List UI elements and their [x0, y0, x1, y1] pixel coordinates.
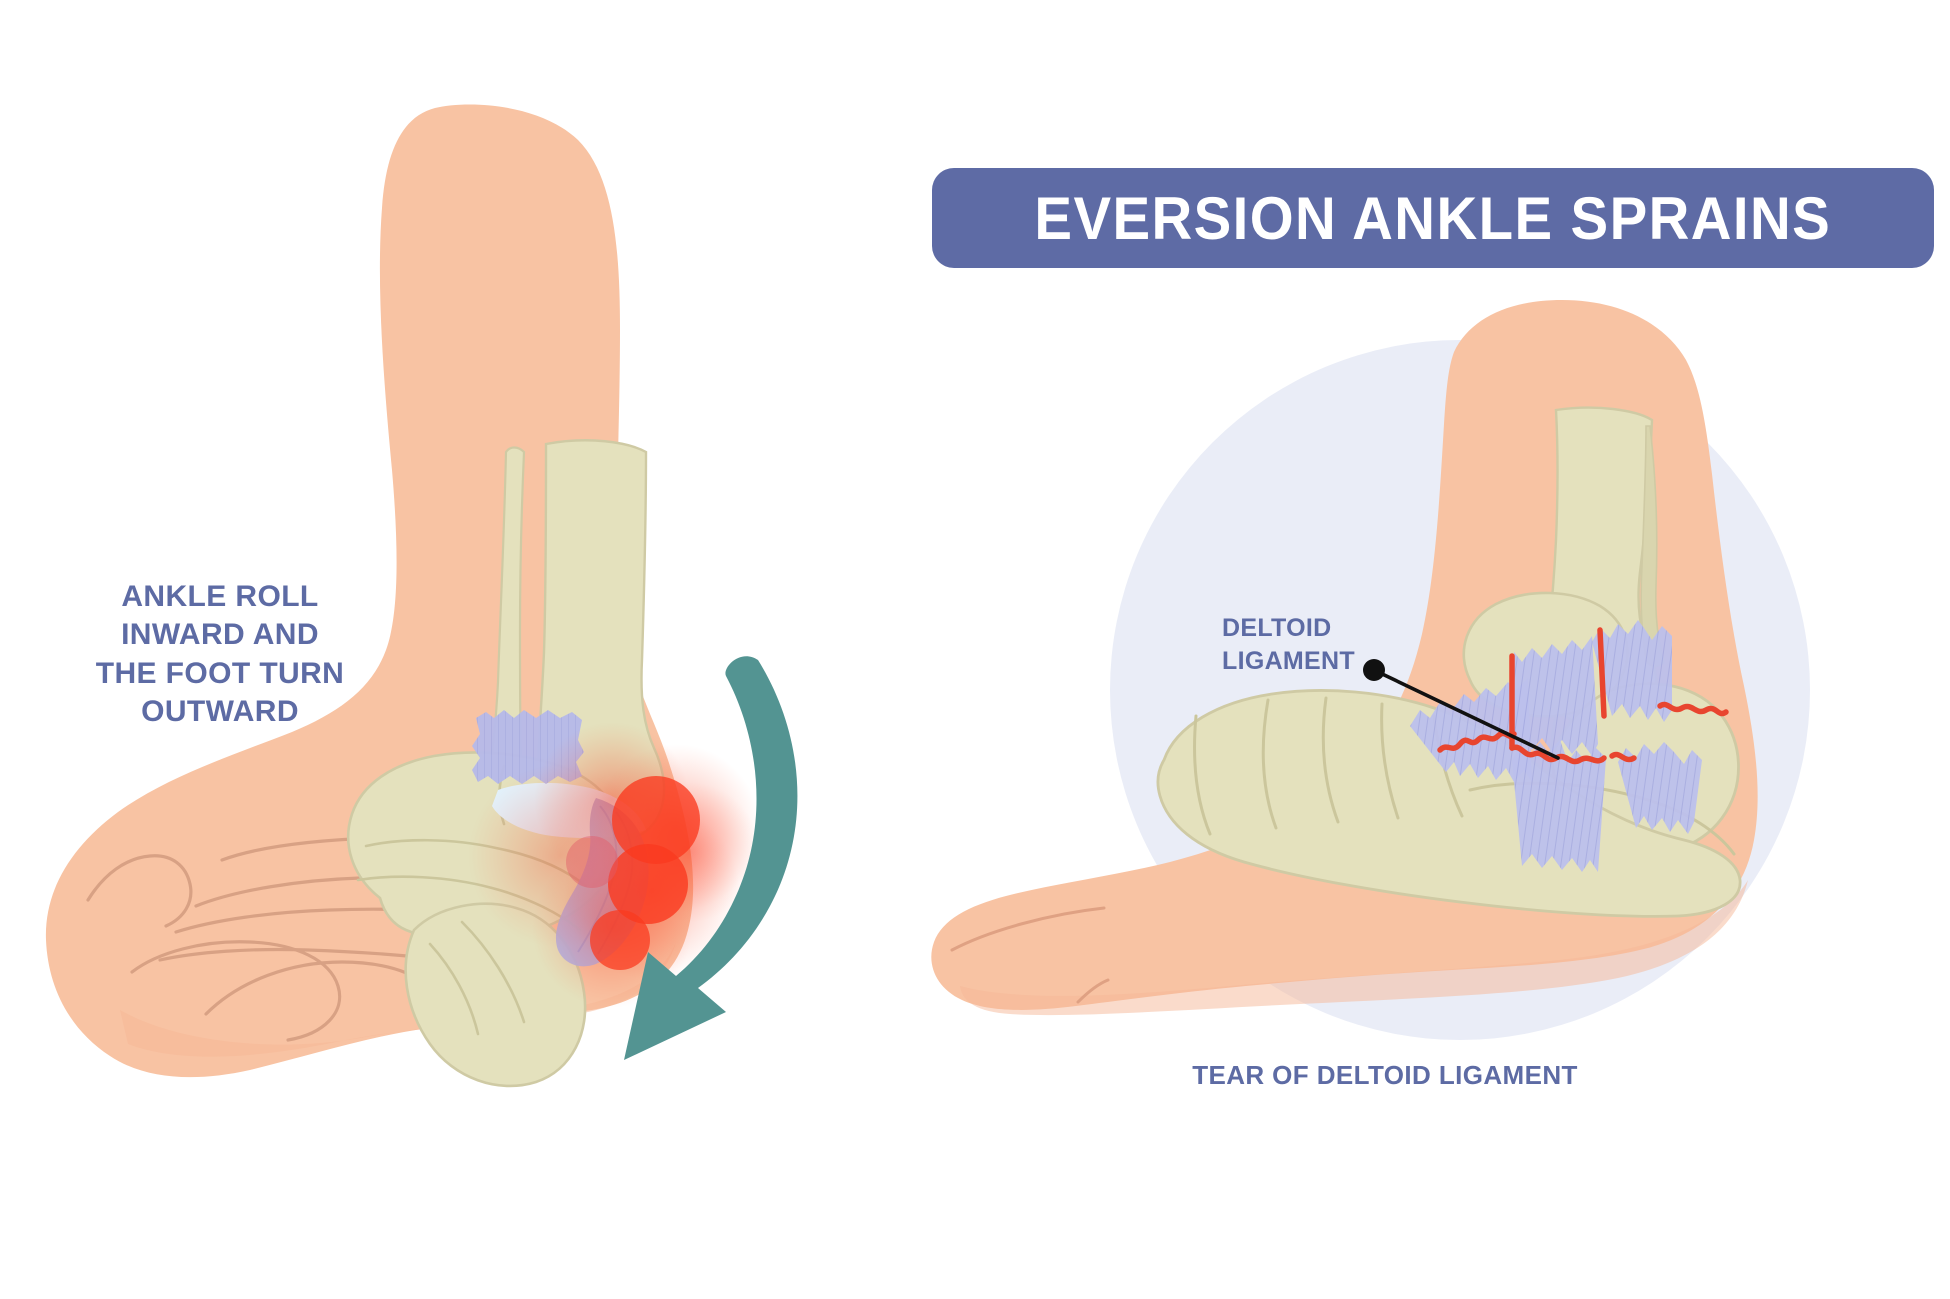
- tear-caption: TEAR OF DELTOID LIGAMENT: [1150, 1060, 1620, 1091]
- title-banner: EVERSION ANKLE SPRAINS: [932, 168, 1934, 268]
- deltoid-ligament-label: DELTOID LIGAMENT: [1222, 612, 1442, 677]
- illustration-canvas: EVERSION ANKLE SPRAINS ANKLE ROLL INWARD…: [0, 0, 1950, 1299]
- caption-line-4: OUTWARD: [55, 693, 385, 731]
- title-text: EVERSION ANKLE SPRAINS: [1035, 184, 1832, 253]
- deltoid-label-line-1: DELTOID: [1222, 612, 1442, 645]
- deltoid-label-line-2: LIGAMENT: [1222, 645, 1442, 678]
- left-panel-caption: ANKLE ROLL INWARD AND THE FOOT TURN OUTW…: [55, 578, 385, 732]
- caption-line-3: THE FOOT TURN: [55, 655, 385, 693]
- caption-line-1: ANKLE ROLL: [55, 578, 385, 616]
- caption-line-2: INWARD AND: [55, 616, 385, 654]
